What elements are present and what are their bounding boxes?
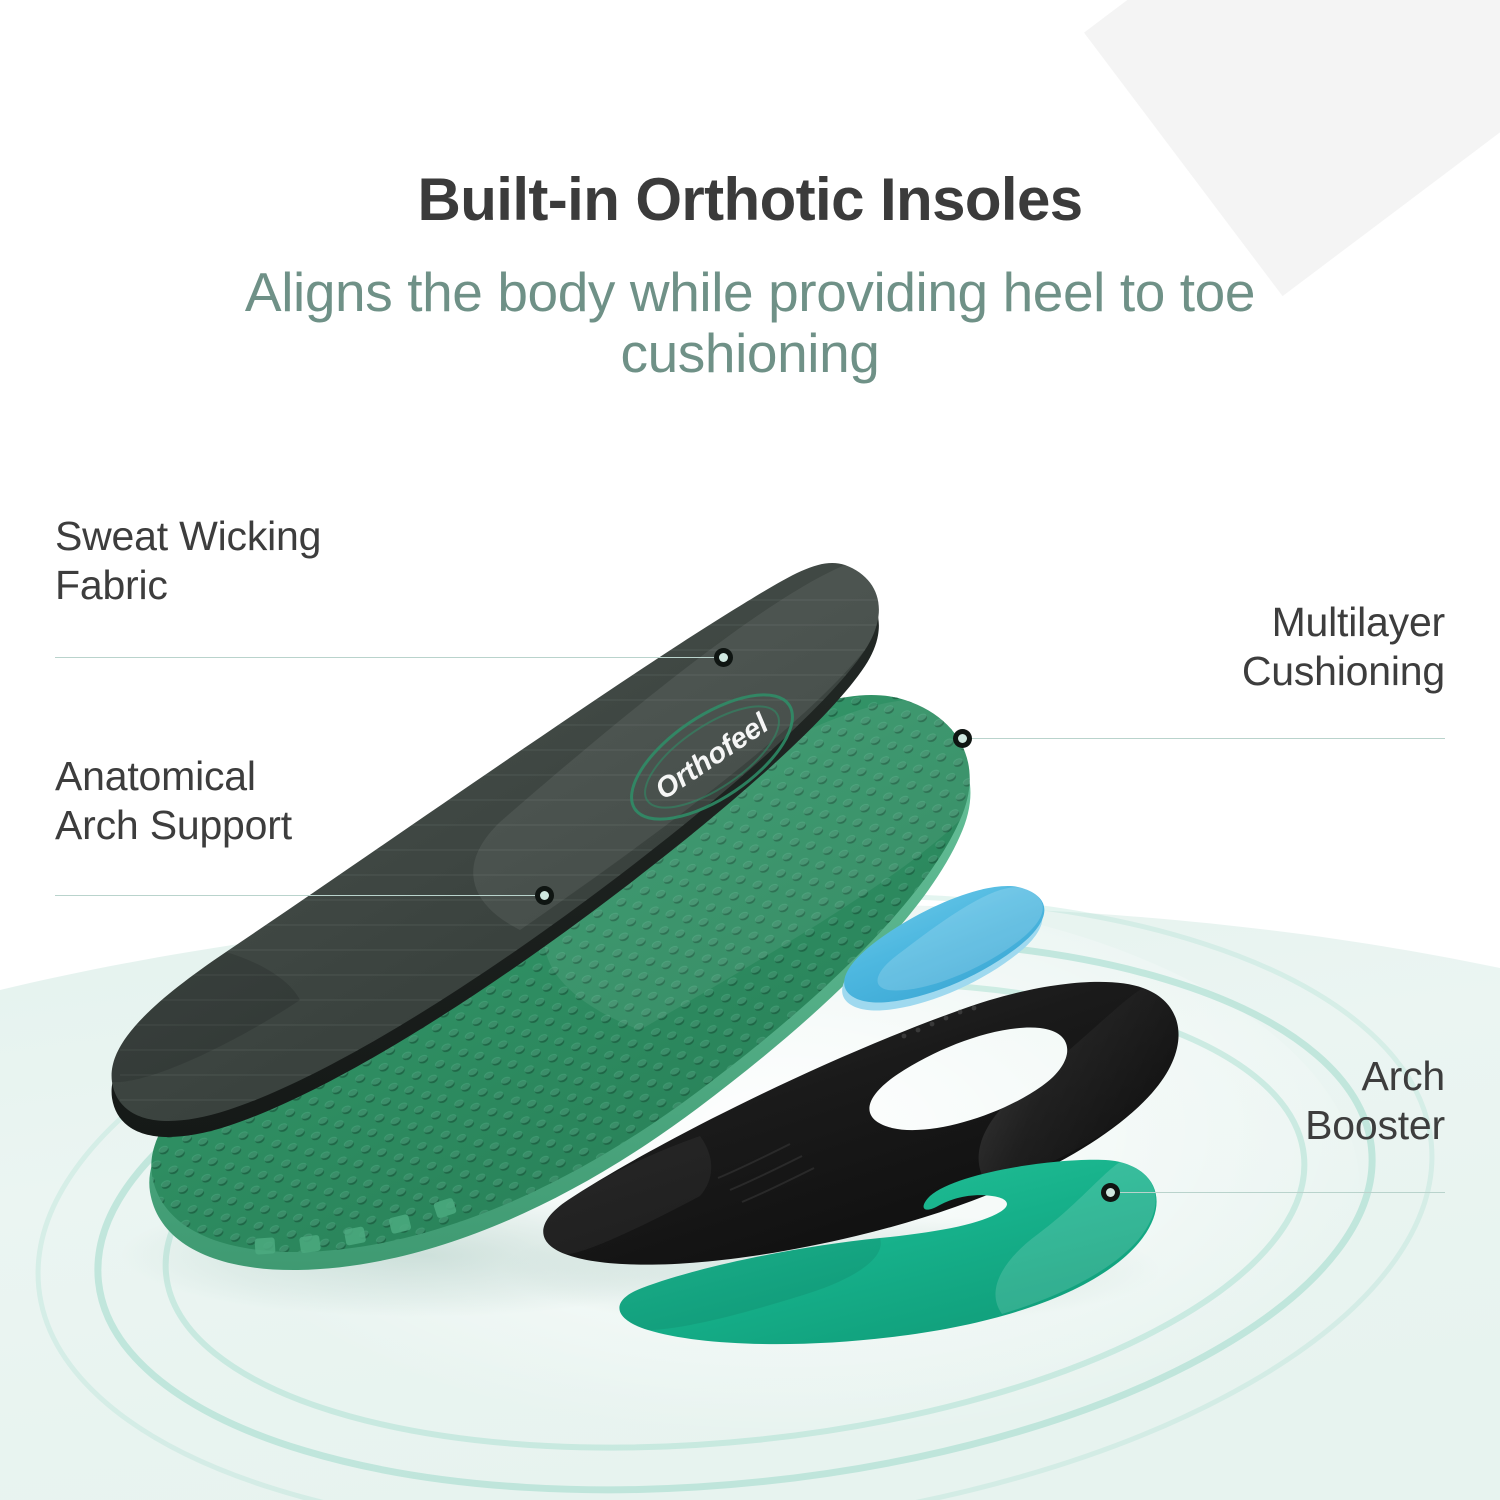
callout-multilayer-cushioning: Multilayer Cushioning bbox=[940, 598, 1445, 696]
callout-label: Anatomical Arch Support bbox=[55, 752, 575, 850]
marker-dot-arch-booster bbox=[1101, 1183, 1120, 1202]
callout-label: Arch Booster bbox=[1135, 1052, 1445, 1150]
callout-arch-booster: Arch Booster bbox=[1135, 1052, 1445, 1150]
page-title: Built-in Orthotic Insoles bbox=[0, 168, 1500, 232]
marker-dot-sweat-wicking-fabric bbox=[714, 648, 733, 667]
callout-label: Multilayer Cushioning bbox=[940, 598, 1445, 696]
callout-label: Sweat Wicking Fabric bbox=[55, 512, 575, 610]
leader-line-anatomical-arch-support bbox=[55, 895, 543, 896]
infographic-canvas: Orthofeel bbox=[0, 0, 1500, 1500]
callout-sweat-wicking-fabric: Sweat Wicking Fabric bbox=[55, 512, 575, 610]
callout-anatomical-arch-support: Anatomical Arch Support bbox=[55, 752, 575, 850]
leader-line-multilayer-cushioning bbox=[972, 738, 1445, 739]
marker-dot-anatomical-arch-support bbox=[535, 886, 554, 905]
leader-line-sweat-wicking-fabric bbox=[55, 657, 715, 658]
marker-dot-multilayer-cushioning bbox=[953, 729, 972, 748]
leader-line-arch-booster bbox=[1120, 1192, 1445, 1193]
page-subtitle: Aligns the body while providing heel to … bbox=[150, 262, 1350, 383]
